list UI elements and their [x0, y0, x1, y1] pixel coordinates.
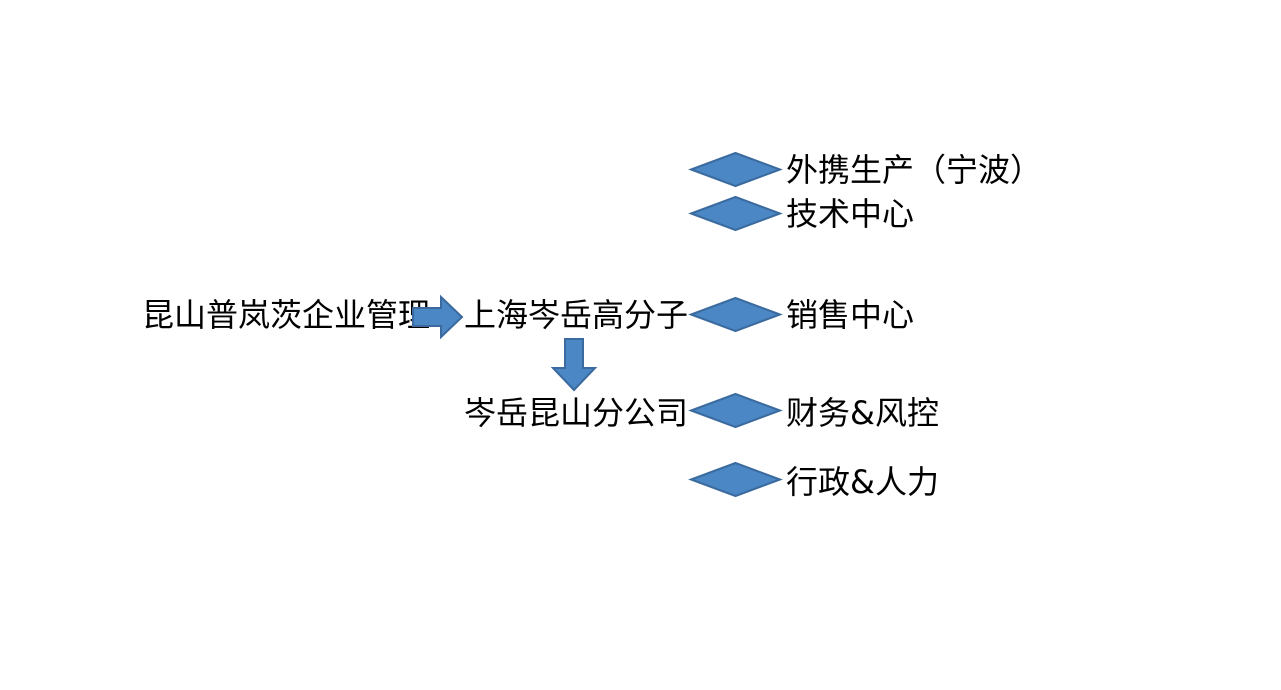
label-administration-hr[interactable]: 行政&人力 — [786, 463, 939, 501]
diamond-icon-sales-center — [690, 297, 781, 332]
diagram-canvas: 昆山普岚茨企业管理 上海岑岳高分子 岑岳昆山分公司 外携生产（宁波） 技术中心 … — [0, 0, 1281, 690]
diamond-icon-technology-center — [690, 196, 781, 231]
label-sales-center[interactable]: 销售中心 — [786, 296, 914, 334]
label-technology-center[interactable]: 技术中心 — [786, 195, 914, 233]
diamond-icon-finance-risk-control — [690, 393, 781, 428]
diamond-icon-administration-hr — [690, 462, 781, 497]
arrow-down-icon — [551, 338, 597, 391]
diamond-icon-outsourced-production-ningbo — [690, 152, 781, 187]
node-shanghai-company[interactable]: 上海岑岳高分子 — [464, 296, 688, 334]
node-kunshan-branch[interactable]: 岑岳昆山分公司 — [464, 394, 688, 432]
label-outsourced-production-ningbo[interactable]: 外携生产（宁波） — [786, 151, 1042, 189]
arrow-right-icon — [412, 296, 463, 338]
node-parent-company[interactable]: 昆山普岚茨企业管理 — [142, 296, 430, 334]
label-finance-risk-control[interactable]: 财务&风控 — [786, 394, 939, 432]
